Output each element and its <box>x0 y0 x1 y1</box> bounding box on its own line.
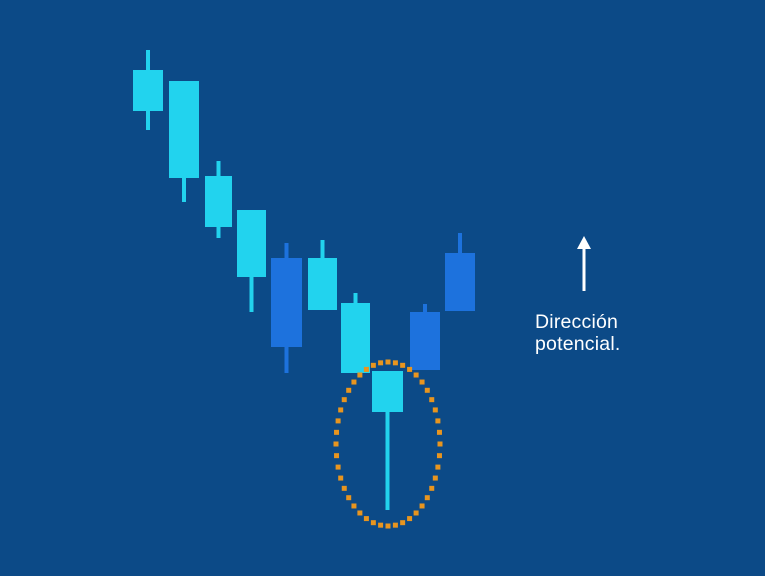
highlight-dot <box>393 360 398 365</box>
highlight-dot <box>438 442 443 447</box>
highlight-dot <box>351 380 356 385</box>
candle-body <box>205 176 232 227</box>
highlight-dot <box>357 510 362 515</box>
highlight-dot <box>334 442 339 447</box>
highlight-dot <box>414 373 419 378</box>
highlight-dot <box>425 495 430 500</box>
highlight-dot <box>371 520 376 525</box>
highlight-dot <box>346 495 351 500</box>
highlight-dot <box>364 367 369 372</box>
highlight-dot <box>433 476 438 481</box>
candle-body <box>133 70 163 111</box>
chart-background <box>0 0 765 576</box>
highlight-dot <box>435 465 440 470</box>
highlight-dot <box>371 363 376 368</box>
highlight-dot <box>378 523 383 528</box>
highlight-dot <box>338 476 343 481</box>
highlight-dot <box>420 503 425 508</box>
candle-body <box>271 258 302 347</box>
candle-body <box>169 81 199 178</box>
highlight-dot <box>346 388 351 393</box>
highlight-dot <box>386 524 391 529</box>
highlight-dot <box>429 397 434 402</box>
candlestick-chart-canvas <box>0 0 765 576</box>
candle-body <box>341 303 370 373</box>
highlight-dot <box>433 407 438 412</box>
highlight-dot <box>334 453 339 458</box>
highlight-dot <box>342 486 347 491</box>
highlight-dot <box>437 453 442 458</box>
highlight-dot <box>351 503 356 508</box>
highlight-dot <box>435 418 440 423</box>
candle-body <box>237 210 266 277</box>
highlight-dot <box>378 360 383 365</box>
highlight-dot <box>400 520 405 525</box>
candle-7 <box>341 293 370 373</box>
candle-body <box>372 371 403 412</box>
highlight-dot <box>393 523 398 528</box>
highlight-dot <box>420 380 425 385</box>
highlight-dot <box>334 430 339 435</box>
highlight-dot <box>336 465 341 470</box>
highlight-dot <box>414 510 419 515</box>
highlight-dot <box>357 373 362 378</box>
highlight-dot <box>386 360 391 365</box>
candle-body <box>308 258 337 310</box>
arrow-shaft <box>583 245 586 291</box>
highlight-dot <box>407 516 412 521</box>
highlight-dot <box>407 367 412 372</box>
highlight-dot <box>338 407 343 412</box>
candle-body <box>410 312 440 370</box>
highlight-dot <box>400 363 405 368</box>
highlight-dot <box>364 516 369 521</box>
candle-body <box>445 253 475 311</box>
highlight-dot <box>342 397 347 402</box>
highlight-dot <box>336 418 341 423</box>
highlight-dot <box>429 486 434 491</box>
highlight-dot <box>425 388 430 393</box>
candlestick-chart-illustration: Dirección potencial. <box>0 0 765 576</box>
candle-9 <box>410 304 440 370</box>
highlight-dot <box>437 430 442 435</box>
potential-direction-label: Dirección potencial. <box>535 311 620 355</box>
